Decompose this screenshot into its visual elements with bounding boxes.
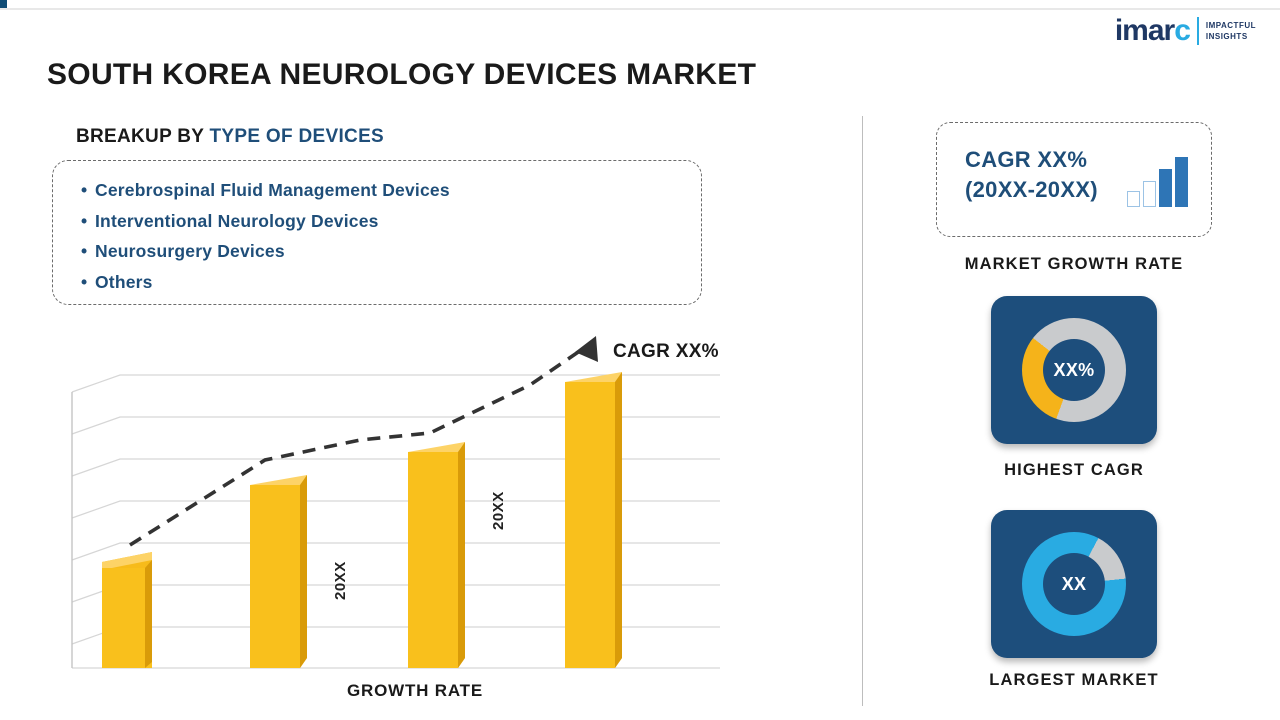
largest-market-value: XX bbox=[1062, 574, 1087, 595]
bar-chart-icon-bar4 bbox=[1175, 157, 1188, 207]
bar-label-3: 20XX bbox=[332, 561, 349, 600]
breakup-heading-accent: TYPE OF DEVICES bbox=[210, 126, 384, 147]
list-item-label: Others bbox=[95, 272, 153, 292]
highest-cagr-donut: XX% bbox=[1022, 318, 1126, 422]
device-type-list: •Cerebrospinal Fluid Management Devices … bbox=[52, 160, 702, 305]
list-item: •Others bbox=[81, 267, 701, 298]
bullet-icon: • bbox=[81, 236, 95, 267]
list-item-label: Neurosurgery Devices bbox=[95, 241, 285, 261]
list-item: •Interventional Neurology Devices bbox=[81, 206, 701, 237]
list-item-label: Cerebrospinal Fluid Management Devices bbox=[95, 180, 450, 200]
cagr-callout-line2: (20XX-20XX) bbox=[965, 175, 1098, 205]
list-item: •Neurosurgery Devices bbox=[81, 236, 701, 267]
chart-cagr-annotation: CAGR XX% bbox=[613, 341, 719, 363]
logo-tagline-line2: INSIGHTS bbox=[1206, 31, 1256, 42]
bar-chart-icon bbox=[1127, 155, 1189, 207]
page-title: SOUTH KOREA NEUROLOGY DEVICES MARKET bbox=[47, 58, 756, 92]
highest-cagr-label: HIGHEST CAGR bbox=[936, 461, 1212, 480]
logo-tagline-line1: IMPACTFUL bbox=[1206, 20, 1256, 31]
logo-separator bbox=[1197, 17, 1199, 45]
bar-chart-icon-bar1 bbox=[1127, 191, 1140, 207]
bullet-icon: • bbox=[81, 206, 95, 237]
highest-cagr-value: XX% bbox=[1054, 360, 1095, 381]
cagr-callout-box: CAGR XX% (20XX-20XX) bbox=[936, 122, 1212, 237]
cagr-callout-line1: CAGR XX% bbox=[965, 145, 1098, 175]
slide-canvas: imarc IMPACTFUL INSIGHTS SOUTH KOREA NEU… bbox=[0, 0, 1280, 720]
breakup-heading-plain: BREAKUP BY bbox=[76, 126, 210, 147]
trend-arrow-head bbox=[575, 336, 598, 362]
trend-arrow bbox=[130, 346, 587, 545]
cagr-callout-text: CAGR XX% (20XX-20XX) bbox=[965, 145, 1098, 205]
breakup-heading: BREAKUP BY TYPE OF DEVICES bbox=[76, 126, 384, 148]
list-item: •Cerebrospinal Fluid Management Devices bbox=[81, 175, 701, 206]
largest-market-donut: XX bbox=[1022, 532, 1126, 636]
bullet-icon: • bbox=[81, 175, 95, 206]
chart-bars bbox=[102, 372, 622, 668]
logo-tagline: IMPACTFUL INSIGHTS bbox=[1206, 20, 1256, 42]
growth-bar-chart: 20XX 20XX bbox=[60, 330, 760, 690]
chart-x-axis-label: GROWTH RATE bbox=[347, 681, 483, 701]
bar-4 bbox=[565, 372, 622, 668]
bar-3 bbox=[408, 442, 465, 668]
imarc-logo: imarc IMPACTFUL INSIGHTS bbox=[1115, 14, 1256, 48]
highest-cagr-card: XX% bbox=[991, 296, 1157, 444]
largest-market-card: XX bbox=[991, 510, 1157, 658]
bar-chart-icon-bar2 bbox=[1143, 181, 1156, 207]
market-growth-rate-label: MARKET GROWTH RATE bbox=[936, 255, 1212, 274]
bullet-icon: • bbox=[81, 267, 95, 298]
panel-divider bbox=[862, 116, 863, 706]
highest-cagr-donut-hole: XX% bbox=[1043, 339, 1105, 401]
top-divider-line bbox=[0, 8, 1280, 10]
largest-market-donut-hole: XX bbox=[1043, 553, 1105, 615]
bar-2 bbox=[250, 475, 307, 668]
largest-market-label: LARGEST MARKET bbox=[936, 671, 1212, 690]
logo-wordmark: imarc bbox=[1115, 14, 1190, 48]
bar-chart-icon-bar3 bbox=[1159, 169, 1172, 207]
bar-label-4: 20XX bbox=[490, 491, 507, 530]
bar-1 bbox=[102, 552, 152, 668]
chart-svg bbox=[60, 330, 760, 690]
list-item-label: Interventional Neurology Devices bbox=[95, 211, 379, 231]
